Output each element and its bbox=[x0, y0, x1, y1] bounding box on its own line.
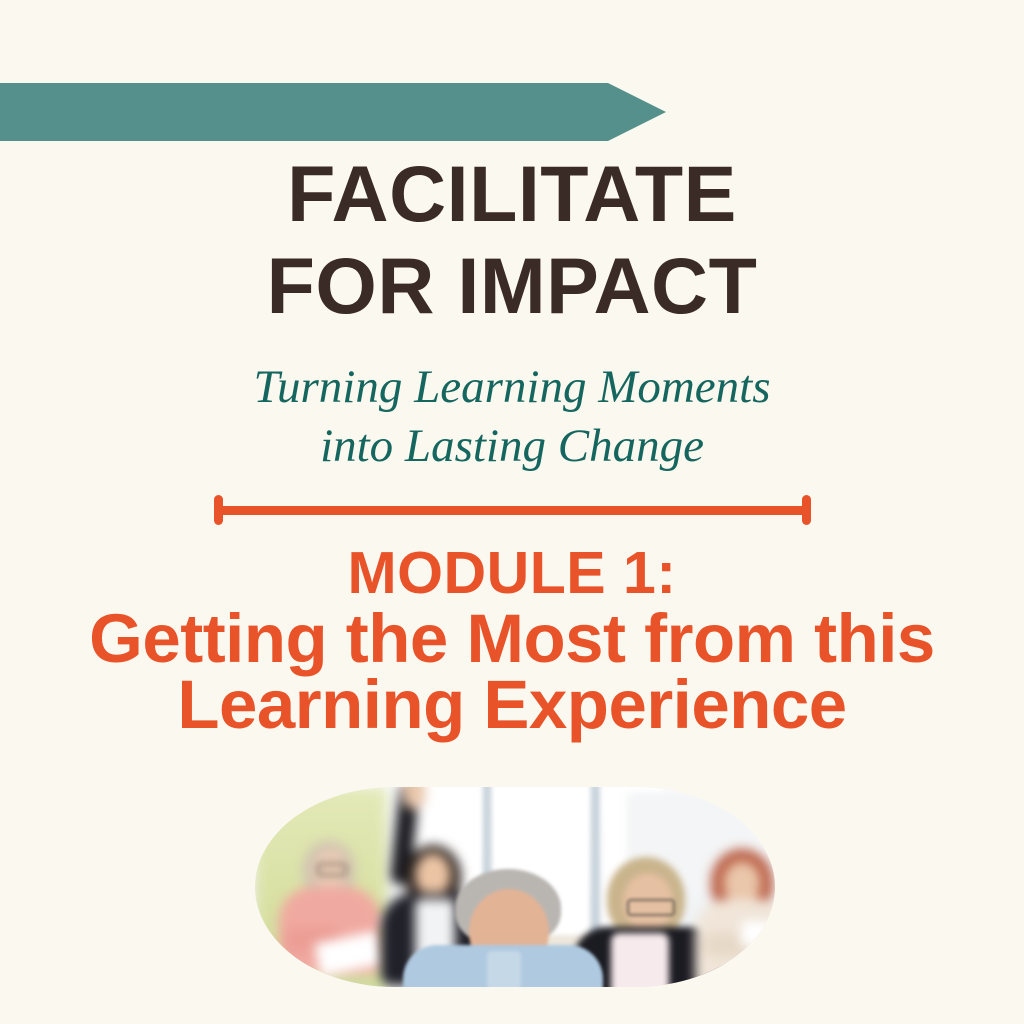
subtitle-line-1: Turning Learning Moments bbox=[0, 358, 1024, 417]
orange-divider bbox=[214, 495, 811, 525]
subtitle-line-2: into Lasting Change bbox=[0, 417, 1024, 476]
divider-bar bbox=[214, 506, 811, 515]
eyeglasses-1 bbox=[317, 863, 347, 876]
paper-sheet-2 bbox=[741, 921, 773, 947]
teal-arrow-banner bbox=[0, 83, 666, 141]
presentation-slide: FACILITATE FOR IMPACT Turning Learning M… bbox=[0, 0, 1024, 1024]
title-line-1: FACILITATE bbox=[0, 148, 1024, 240]
classroom-photo bbox=[255, 787, 775, 987]
classroom-photo-scene bbox=[255, 787, 775, 987]
module-label: MODULE 1: bbox=[0, 540, 1024, 606]
window-mullion-2 bbox=[591, 787, 600, 941]
module-heading: MODULE 1: Getting the Most from this Lea… bbox=[0, 540, 1024, 738]
page-subtitle: Turning Learning Moments into Lasting Ch… bbox=[0, 358, 1024, 476]
page-title: FACILITATE FOR IMPACT bbox=[0, 148, 1024, 332]
arrow-banner-shape bbox=[0, 83, 666, 141]
eyeglasses-2 bbox=[627, 899, 675, 916]
module-name-line-2: Learning Experience bbox=[0, 672, 1024, 738]
divider-cap-right bbox=[802, 495, 811, 525]
title-line-2: FOR IMPACT bbox=[0, 240, 1024, 332]
module-name-line-1: Getting the Most from this bbox=[0, 606, 1024, 672]
